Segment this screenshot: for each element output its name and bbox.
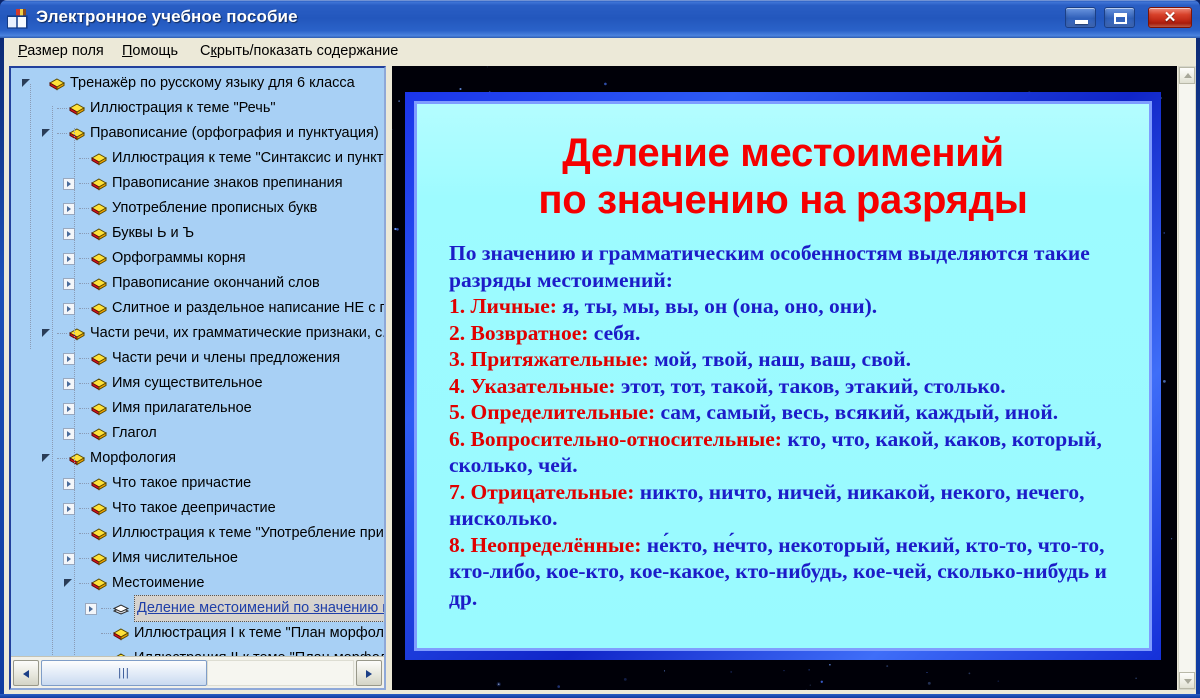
tree-node[interactable]: Слитное и раздельное написание НЕ с г. <box>63 296 384 321</box>
tree-node-label: Местоимение <box>112 571 204 596</box>
pronoun-category-item: 5. Определительные: сам, самый, весь, вс… <box>449 399 1123 426</box>
book-icon <box>69 102 85 116</box>
maximize-button[interactable] <box>1104 7 1135 28</box>
book-icon <box>91 477 107 491</box>
tree-connector-line <box>79 583 89 584</box>
category-number: 5. <box>449 400 465 424</box>
collapse-triangle-icon[interactable] <box>21 78 33 90</box>
tree-node[interactable]: Морфология <box>41 446 176 471</box>
category-name: Личные: <box>471 294 557 318</box>
scroll-left-arrow-icon[interactable] <box>13 660 39 686</box>
category-name: Возвратное: <box>471 321 589 345</box>
tree-node[interactable]: Правописание знаков препинания <box>63 171 343 196</box>
tree-node-label: Правописание окончаний слов <box>112 271 320 296</box>
selection-highlight: Деление местоимений по значению на <box>134 595 384 622</box>
pronoun-category-item: 8. Неопределённые: не́кто, не́что, некот… <box>449 532 1123 612</box>
tree-node-label: Части речи, их грамматические признаки, … <box>90 321 384 346</box>
book-icon <box>91 202 107 216</box>
tree-connector-line <box>101 608 111 609</box>
book-icon <box>69 452 85 466</box>
tree-node[interactable]: Тренажёр по русскому языку для 6 класса <box>21 71 355 96</box>
application-window: Электронное учебное пособие ✕ Размер пол… <box>0 0 1200 698</box>
menu-item-help[interactable]: Помощь <box>122 43 178 59</box>
tree-node[interactable]: Имя существительное <box>63 371 263 396</box>
tree-node[interactable]: Имя числительное <box>63 546 238 571</box>
slide-frame-inner: Деление местоименийпо значению на разряд… <box>414 101 1152 651</box>
tree-node-label: Части речи и члены предложения <box>112 346 340 371</box>
pronoun-category-item: 6. Вопросительно-относительные: кто, что… <box>449 426 1123 479</box>
category-examples: я, ты, мы, вы, он (она, оно, они). <box>562 294 877 318</box>
book-icon <box>91 252 107 266</box>
pronoun-category-item: 2. Возвратное: себя. <box>449 320 1123 347</box>
book-icon <box>91 477 107 491</box>
category-number: 6. <box>449 427 465 451</box>
slide-title-line-1: Деление местоимений <box>439 130 1127 177</box>
category-number: 4. <box>449 374 465 398</box>
tree-node-label: Тренажёр по русскому языку для 6 класса <box>70 71 355 96</box>
book-icon <box>91 427 107 441</box>
category-name: Отрицательные: <box>471 480 635 504</box>
scroll-right-arrow-icon[interactable] <box>356 660 382 686</box>
tree-node-label: Имя прилагательное <box>112 396 252 421</box>
close-button[interactable]: ✕ <box>1148 7 1192 28</box>
tree-connector-line <box>79 283 89 284</box>
tree-node[interactable]: Употребление прописных букв <box>63 196 317 221</box>
book-icon <box>91 352 107 366</box>
slide-frame: Деление местоименийпо значению на разряд… <box>405 92 1161 660</box>
book-icon <box>91 552 107 566</box>
tree-node[interactable]: Иллюстрация к теме "Речь" <box>41 96 276 121</box>
close-icon: ✕ <box>1149 8 1191 27</box>
slide-viewer: Деление местоименийпо значению на разряд… <box>392 66 1177 690</box>
book-icon <box>91 402 107 416</box>
category-number: 7. <box>449 480 465 504</box>
slide-title: Деление местоименийпо значению на разряд… <box>439 130 1127 224</box>
tree-node-label: Орфограммы корня <box>112 246 246 271</box>
category-name: Неопределённые: <box>471 533 642 557</box>
tree-node-label: Иллюстрация к теме "Речь" <box>90 96 276 121</box>
menu-item-field-size[interactable]: Размер поля <box>18 43 104 59</box>
book-icon <box>113 627 129 641</box>
tree-node-label: Слитное и раздельное написание НЕ с г. <box>112 296 384 321</box>
tree-horizontal-scrollbar[interactable] <box>11 656 384 688</box>
menu-bar: Размер поля Помощь Скрыть/показать содер… <box>4 38 1196 65</box>
book-icon <box>91 177 107 191</box>
tree-connector-line <box>79 233 89 234</box>
book-icon <box>91 177 107 191</box>
tree-guide-line <box>74 128 75 656</box>
tree-guide-line <box>30 84 31 349</box>
tree-node-label: Буквы Ь и Ъ <box>112 221 194 246</box>
tree-node-label: Что такое причастие <box>112 471 251 496</box>
tree-node[interactable]: Части речи, их грамматические признаки, … <box>41 321 384 346</box>
category-name: Вопросительно-относительные: <box>471 427 782 451</box>
tree-node[interactable]: Глагол <box>63 421 157 446</box>
tree-connector-line <box>79 533 89 534</box>
category-name: Притяжательные: <box>471 347 649 371</box>
tree-connector-line <box>79 408 89 409</box>
tree-node-selected[interactable]: Деление местоимений по значению на <box>85 596 384 621</box>
tree-connector-line <box>79 383 89 384</box>
book-icon <box>91 577 107 591</box>
book-icon <box>69 327 85 341</box>
tree-node-label: Иллюстрация к теме "Синтаксис и пункту <box>112 146 384 171</box>
tree-node[interactable]: Имя прилагательное <box>63 396 252 421</box>
minimize-button[interactable] <box>1065 7 1096 28</box>
open-book-icon <box>113 602 129 616</box>
tree-node[interactable]: Буквы Ь и Ъ <box>63 221 194 246</box>
book-icon <box>113 627 129 641</box>
tree-connector-line <box>79 308 89 309</box>
book-icon <box>91 377 107 391</box>
tree-connector-line <box>79 258 89 259</box>
tree-node[interactable]: Части речи и члены предложения <box>63 346 340 371</box>
tree-connector-line <box>79 433 89 434</box>
menu-item-toggle-contents[interactable]: Скрыть/показать содержание <box>200 43 398 59</box>
book-icon <box>69 127 85 141</box>
category-name: Определительные: <box>471 400 656 424</box>
tree-node-label: Употребление прописных букв <box>112 196 317 221</box>
book-icon <box>69 127 85 141</box>
book-icon <box>49 77 65 91</box>
book-icon <box>91 152 107 166</box>
category-number: 1. <box>449 294 465 318</box>
book-icon <box>91 277 107 291</box>
book-icon <box>91 252 107 266</box>
book-icon <box>7 9 29 29</box>
window-bottom-edge <box>0 694 1200 698</box>
title-bar[interactable]: Электронное учебное пособие ✕ <box>0 0 1200 38</box>
tree-node[interactable]: Иллюстрация к теме "Употребление при <box>63 521 384 546</box>
pronoun-category-item: 3. Притяжательные: мой, твой, наш, ваш, … <box>449 346 1123 373</box>
category-examples: себя. <box>594 321 641 345</box>
slide-title-line-2: по значению на разряды <box>439 177 1127 224</box>
book-icon <box>91 527 107 541</box>
contents-tree-panel[interactable]: Тренажёр по русскому языку для 6 классаИ… <box>9 66 386 690</box>
book-icon <box>91 552 107 566</box>
category-examples: сам, самый, весь, всякий, каждый, иной. <box>660 400 1058 424</box>
book-icon <box>91 302 107 316</box>
book-icon <box>91 302 107 316</box>
tree-node-label: Иллюстрация II к теме "План морфол <box>134 646 384 656</box>
tree-connector-line <box>79 508 89 509</box>
tree-connector-line <box>57 458 67 459</box>
tree-connector-line <box>57 108 67 109</box>
viewer-vertical-scrollbar[interactable] <box>1178 66 1196 690</box>
book-icon <box>91 502 107 516</box>
tree-node-label: Что такое деепричастие <box>112 496 276 521</box>
tree-node[interactable]: Иллюстрация к теме "Синтаксис и пункту <box>63 146 384 171</box>
tree-connector-line <box>57 333 67 334</box>
tree-node[interactable]: Что такое причастие <box>63 471 251 496</box>
tree-node[interactable]: Иллюстрация I к теме "План морфоло <box>85 621 384 646</box>
tree-connector-line <box>79 158 89 159</box>
book-icon <box>69 102 85 116</box>
book-icon <box>91 377 107 391</box>
tree-connector-line <box>79 483 89 484</box>
pronoun-category-item: 7. Отрицательные: никто, ничто, ничей, н… <box>449 479 1123 532</box>
book-icon <box>91 227 107 241</box>
tree-node-label: Деление местоимений по значению на <box>137 600 384 616</box>
book-icon <box>69 327 85 341</box>
tree-node[interactable]: Орфограммы корня <box>63 246 246 271</box>
tree-node[interactable]: Местоимение <box>63 571 204 596</box>
scroll-up-arrow-icon[interactable] <box>1179 67 1195 84</box>
book-icon <box>91 227 107 241</box>
tree-node-label: Имя числительное <box>112 546 238 571</box>
slide-body: По значению и грамматическим особенностя… <box>439 240 1127 611</box>
tree-node-label: Правописание (орфография и пунктуация) <box>90 121 379 146</box>
book-icon <box>91 402 107 416</box>
pronoun-category-item: 1. Личные: я, ты, мы, вы, он (она, оно, … <box>449 293 1123 320</box>
book-icon <box>69 452 85 466</box>
expand-triangle-icon[interactable] <box>85 603 97 615</box>
tree-connector-line <box>79 183 89 184</box>
client-area: Размер поля Помощь Скрыть/показать содер… <box>4 38 1196 694</box>
category-examples: этот, тот, такой, таков, этакий, столько… <box>621 374 1006 398</box>
category-examples: мой, твой, наш, ваш, свой. <box>654 347 911 371</box>
book-icon <box>91 577 107 591</box>
open-book-icon <box>113 602 129 616</box>
tree-node-label: Имя существительное <box>112 371 263 396</box>
category-number: 3. <box>449 347 465 371</box>
tree-connector-line <box>79 358 89 359</box>
horizontal-scrollbar-track[interactable] <box>207 660 354 686</box>
tree-guide-line <box>52 106 53 656</box>
category-name: Указательные: <box>471 374 616 398</box>
tree-node[interactable]: Что такое деепричастие <box>63 496 276 521</box>
tree-node-label: Глагол <box>112 421 157 446</box>
tree-node[interactable]: Правописание (орфография и пунктуация) <box>41 121 379 146</box>
book-icon <box>91 427 107 441</box>
tree-connector-line <box>57 133 67 134</box>
tree-connector-line <box>79 558 89 559</box>
tree-node-label: Иллюстрация I к теме "План морфоло <box>134 621 384 646</box>
tree-node[interactable]: Иллюстрация II к теме "План морфол <box>85 646 384 656</box>
tree-node-list[interactable]: Тренажёр по русскому языку для 6 классаИ… <box>11 68 384 656</box>
tree-node-label: Иллюстрация к теме "Употребление при <box>112 521 384 546</box>
scroll-down-arrow-icon[interactable] <box>1179 672 1195 689</box>
tree-connector-line <box>101 633 111 634</box>
tree-connector-line <box>79 208 89 209</box>
book-icon <box>91 527 107 541</box>
book-icon <box>91 277 107 291</box>
tree-node-label: Морфология <box>90 446 176 471</box>
pronoun-category-item: 4. Указательные: этот, тот, такой, таков… <box>449 373 1123 400</box>
book-icon <box>91 502 107 516</box>
window-title: Электронное учебное пособие <box>36 7 298 27</box>
slide-content: Деление местоименийпо значению на разряд… <box>417 104 1149 648</box>
tree-node[interactable]: Правописание окончаний слов <box>63 271 320 296</box>
book-icon <box>91 152 107 166</box>
book-icon <box>91 352 107 366</box>
tree-node-label: Правописание знаков препинания <box>112 171 343 196</box>
category-number: 8. <box>449 533 465 557</box>
book-icon <box>91 202 107 216</box>
book-icon <box>49 77 65 91</box>
category-number: 2. <box>449 321 465 345</box>
horizontal-scrollbar-thumb[interactable] <box>41 660 207 686</box>
slide-intro-text: По значению и грамматическим особенностя… <box>449 240 1123 293</box>
